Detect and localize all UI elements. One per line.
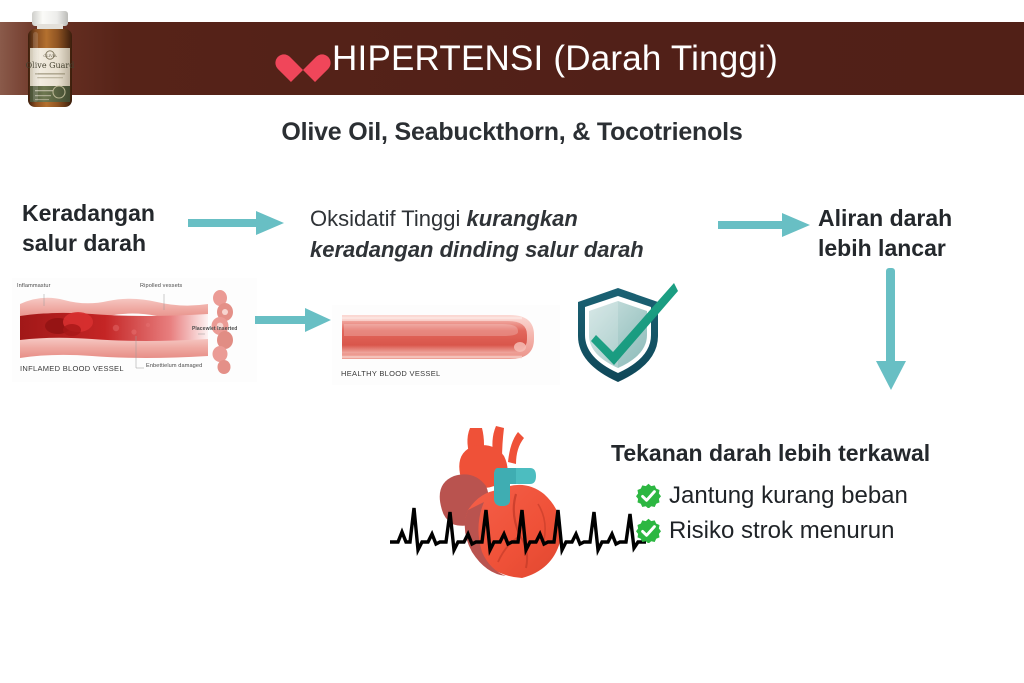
ecg-waveform-icon <box>388 498 648 560</box>
arrow-right-icon-2 <box>718 210 813 245</box>
step-3-line-2: lebih lancar <box>818 233 1018 263</box>
subtitle: Olive Oil, Seabuckthorn, & Tocotrienols <box>0 118 1024 147</box>
inflamed-vessel-caption: INFLAMED BLOOD VESSEL <box>20 364 124 373</box>
arrow-right-icon-3 <box>255 305 335 340</box>
heart-icon <box>286 43 320 74</box>
step-3-line-1: Aliran darah <box>818 203 1018 233</box>
step-2-normal: Oksidatif Tinggi <box>310 206 467 231</box>
inflamed-label-3: Enbettielum damaged <box>146 363 202 369</box>
green-check-badge-icon <box>636 518 661 543</box>
result-heading: Tekanan darah lebih terkawal <box>611 440 930 467</box>
benefit-label: Jantung kurang beban <box>669 482 908 510</box>
banner-content: HIPERTENSI (Darah Tinggi) <box>286 39 778 79</box>
inflamed-label-4: Placewlet Inserted <box>192 326 237 332</box>
flow-step-bloodflow: Aliran darah lebih lancar <box>818 203 1018 264</box>
green-check-badge-icon <box>636 483 661 508</box>
flow-step-oxidative: Oksidatif Tinggi kurangkan keradangan di… <box>310 203 655 265</box>
benefit-list: Jantung kurang beban Risiko strok menuru… <box>636 478 1016 548</box>
svg-text:OLIVIA: OLIVIA <box>43 54 57 58</box>
product-bottle-image: OLIVIA Olive Guard <box>6 2 102 114</box>
benefit-label: Risiko strok menurun <box>669 517 894 545</box>
page-title: HIPERTENSI (Darah Tinggi) <box>332 39 778 79</box>
list-item: Risiko strok menurun <box>636 513 1016 548</box>
shield-check-icon <box>566 278 686 390</box>
inflamed-label-1: Inflammastur <box>17 283 51 289</box>
list-item: Jantung kurang beban <box>636 478 1016 513</box>
header-banner: HIPERTENSI (Darah Tinggi) <box>0 22 1024 95</box>
arrow-right-icon <box>188 208 288 243</box>
svg-text:Olive Guard: Olive Guard <box>26 61 75 70</box>
healthy-vessel-caption: HEALTHY BLOOD VESSEL <box>341 369 441 378</box>
arrow-down-icon <box>862 268 922 398</box>
inflamed-label-2: Ripolled vessets <box>140 283 182 289</box>
